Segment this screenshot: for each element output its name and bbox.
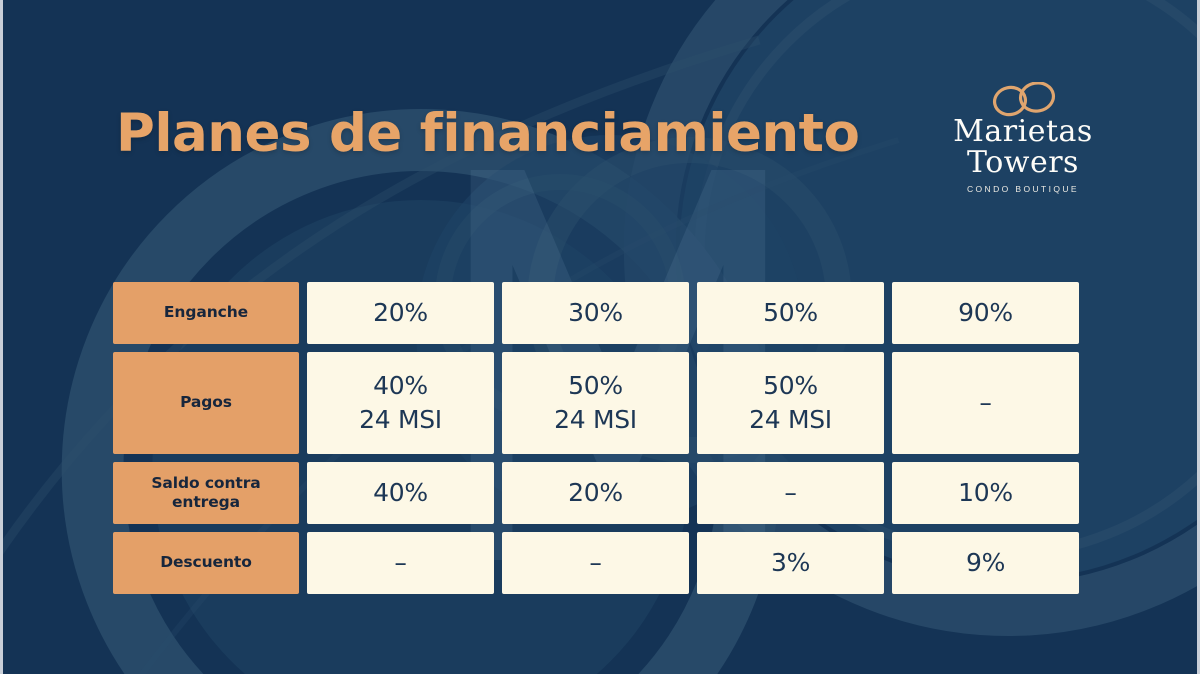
page-title: Planes de financiamiento [116, 103, 859, 164]
table-row: Enganche 20% 30% 50% 90% [113, 282, 1079, 344]
row-label-pagos: Pagos [113, 352, 299, 454]
cell-descuento-plan2: – [502, 532, 689, 594]
cell-descuento-plan1: – [307, 532, 494, 594]
two-interlocking-rings-icon [981, 82, 1065, 118]
cell-pagos-plan3: 50% 24 MSI [697, 352, 884, 454]
cell-value-secondary: 24 MSI [502, 403, 689, 438]
logo-tagline: CONDO BOUTIQUE [933, 184, 1113, 194]
row-label-line2: entrega [172, 493, 240, 511]
cell-value: 90% [958, 298, 1013, 327]
row-label-line1: Saldo contra [151, 474, 260, 492]
cell-value: 10% [958, 478, 1013, 507]
cell-value: 40% [373, 478, 428, 507]
cell-saldo-plan4: 10% [892, 462, 1079, 524]
row-label-saldo-contra-entrega: Saldo contra entrega [113, 462, 299, 524]
cell-value: 9% [966, 548, 1005, 577]
cell-enganche-plan2: 30% [502, 282, 689, 344]
cell-enganche-plan3: 50% [697, 282, 884, 344]
cell-value: 20% [568, 478, 623, 507]
cell-pagos-plan1: 40% 24 MSI [307, 352, 494, 454]
cell-descuento-plan4: 9% [892, 532, 1079, 594]
table-row: Saldo contra entrega 40% 20% – 10% [113, 462, 1079, 524]
table-row: Pagos 40% 24 MSI 50% 24 MSI 50% 24 MSI – [113, 352, 1079, 454]
cell-value: 3% [771, 548, 810, 577]
cell-value-secondary: 24 MSI [307, 403, 494, 438]
cell-saldo-plan1: 40% [307, 462, 494, 524]
cell-pagos-plan2: 50% 24 MSI [502, 352, 689, 454]
cell-value: – [394, 548, 406, 577]
cell-value: 50% [568, 371, 623, 400]
cell-value: – [979, 388, 991, 417]
row-label-descuento: Descuento [113, 532, 299, 594]
row-label-enganche: Enganche [113, 282, 299, 344]
cell-value: 50% [763, 371, 818, 400]
cell-enganche-plan4: 90% [892, 282, 1079, 344]
brand-logo: Marietas Towers CONDO BOUTIQUE [933, 82, 1113, 212]
logo-wordmark-line1: Marietas [933, 118, 1113, 147]
logo-wordmark-line2: Towers [933, 149, 1113, 178]
cell-value: – [784, 478, 796, 507]
table-row: Descuento – – 3% 9% [113, 532, 1079, 594]
cell-value-secondary: 24 MSI [697, 403, 884, 438]
cell-value: 50% [763, 298, 818, 327]
cell-saldo-plan2: 20% [502, 462, 689, 524]
cell-descuento-plan3: 3% [697, 532, 884, 594]
financing-plans-slide: Planes de financiamiento Marietas Towers… [0, 0, 1200, 674]
cell-pagos-plan4: – [892, 352, 1079, 454]
cell-value: – [589, 548, 601, 577]
financing-plans-table: Enganche 20% 30% 50% 90% Pagos 40% 2 [105, 274, 1087, 602]
cell-enganche-plan1: 20% [307, 282, 494, 344]
cell-value: 40% [373, 371, 428, 400]
cell-saldo-plan3: – [697, 462, 884, 524]
cell-value: 20% [373, 298, 428, 327]
cell-value: 30% [568, 298, 623, 327]
